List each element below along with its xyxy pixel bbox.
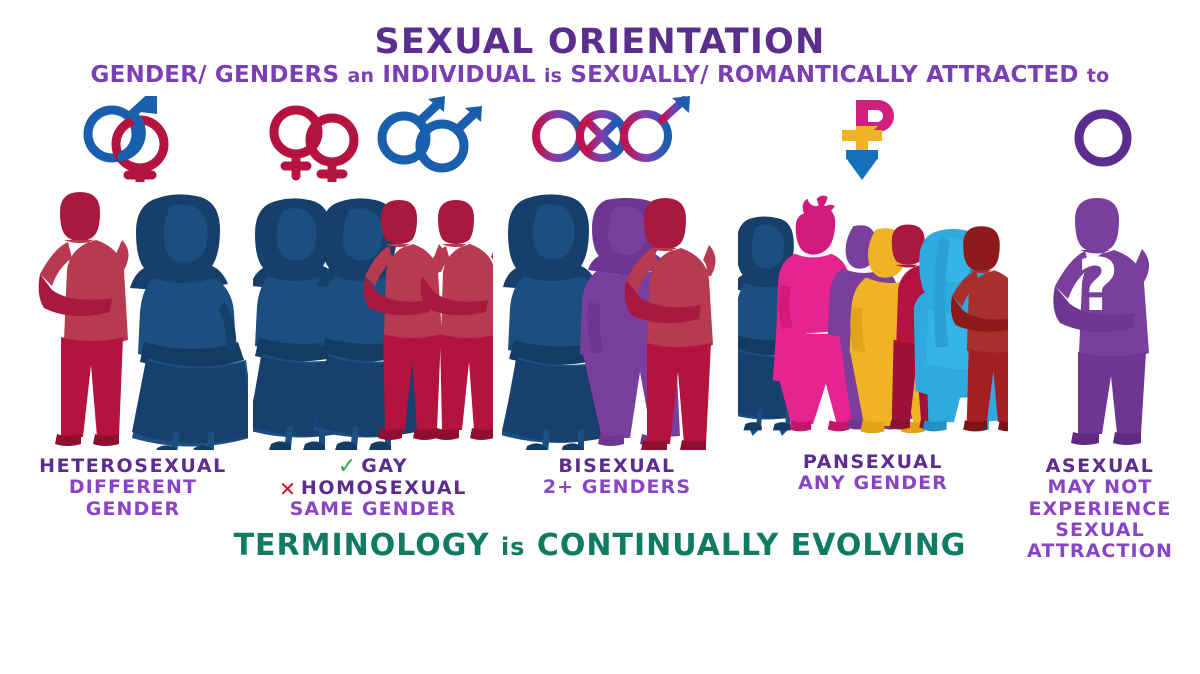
caption-line-2: GENDER (8, 499, 258, 520)
bisexual-figures (492, 182, 742, 450)
subtitle-part-to: to (1087, 65, 1110, 87)
caption-line-1: SAME GENDER (248, 499, 498, 520)
caption-pansexual: PANSEXUAL ANY GENDER (738, 452, 1008, 495)
gay-symbol-box (248, 96, 498, 182)
bisexual-symbol-box (492, 96, 742, 182)
subtitle-part-an: an (347, 65, 374, 87)
page-subtitle: GENDER/ GENDERS an INDIVIDUAL is SEXUALL… (0, 62, 1200, 88)
couple-silhouettes (18, 182, 248, 450)
subtitle-part-is: is (544, 65, 562, 87)
double-female-and-double-male-symbol (258, 96, 488, 182)
caption-heterosexual: HETEROSEXUAL DIFFERENT GENDER (8, 456, 258, 520)
gay-affirmed-row: ✓ GAY (248, 456, 498, 478)
figure-man-crimson (39, 192, 129, 446)
caption-title: ASEXUAL (1000, 456, 1200, 477)
column-heterosexual: HETEROSEXUAL DIFFERENT GENDER (8, 96, 258, 566)
caption-title-homosexual: HOMOSEXUAL (301, 478, 467, 499)
column-bisexual: BISEXUAL 2+ GENDERS (492, 96, 742, 566)
heterosexual-figures (8, 182, 258, 450)
page-title: SEXUAL ORIENTATION (0, 22, 1200, 62)
caption-gay: ✓ GAY ✕ HOMOSEXUAL SAME GENDER (248, 456, 498, 521)
infographic-canvas: SEXUAL ORIENTATION GENDER/ GENDERS an IN… (0, 0, 1200, 674)
column-gay: ✓ GAY ✕ HOMOSEXUAL SAME GENDER (248, 96, 498, 566)
figure-person-purple-question: ? (1053, 198, 1149, 445)
gay-figures (248, 182, 498, 450)
caption-title: PANSEXUAL (738, 452, 1008, 473)
banner-part-1: TERMINOLOGY (234, 528, 501, 563)
female-transgender-male-symbol (522, 96, 712, 182)
caption-bisexual: BISEXUAL 2+ GENDERS (492, 456, 742, 499)
caption-line-2: EXPERIENCE (1000, 499, 1200, 520)
caption-line-1: 2+ GENDERS (492, 477, 742, 498)
caption-line-1: MAY NOT (1000, 477, 1200, 498)
terminology-banner: TERMINOLOGY is CONTINUALLY EVOLVING (0, 528, 1200, 563)
pansexual-p-symbol (828, 96, 918, 182)
banner-part-is: is (501, 533, 526, 561)
pansexual-symbol-box (738, 96, 1008, 182)
pansexual-figures (738, 182, 1008, 450)
column-asexual: ? ASEXUAL MAY NOT EXPERIENCE SEXUAL ATTR… (1000, 96, 1200, 566)
caption-line-1: DIFFERENT (8, 477, 258, 498)
bisexual-trio-silhouettes (502, 182, 732, 450)
figure-woman-navy (130, 194, 248, 450)
column-pansexual: PANSEXUAL ANY GENDER (738, 96, 1008, 566)
caption-title: HETEROSEXUAL (8, 456, 258, 477)
asexual-figures: ? (1000, 182, 1200, 450)
subtitle-part-1: GENDER/ GENDERS (91, 62, 348, 88)
banner-part-2: CONTINUALLY EVOLVING (525, 528, 966, 563)
subtitle-part-2: INDIVIDUAL (374, 62, 544, 88)
asexual-ring-symbol (1065, 96, 1135, 182)
pansexual-group-silhouettes (738, 182, 1008, 450)
question-mark-icon: ? (1077, 243, 1119, 327)
male-female-interlocked-symbol (58, 96, 208, 182)
check-icon: ✓ (338, 456, 356, 478)
heterosexual-symbol-box (8, 96, 258, 182)
caption-line-1: ANY GENDER (738, 473, 1008, 494)
cross-icon: ✕ (279, 479, 296, 499)
gay-discouraged-row: ✕ HOMOSEXUAL (248, 478, 498, 499)
caption-title-gay: GAY (361, 456, 408, 477)
gay-couples-silhouettes (253, 182, 493, 450)
subtitle-part-3: SEXUALLY/ ROMANTICALLY ATTRACTED (562, 62, 1087, 88)
caption-title: BISEXUAL (492, 456, 742, 477)
asexual-symbol-box (1000, 96, 1200, 182)
asexual-figure-silhouette: ? (1025, 182, 1175, 450)
